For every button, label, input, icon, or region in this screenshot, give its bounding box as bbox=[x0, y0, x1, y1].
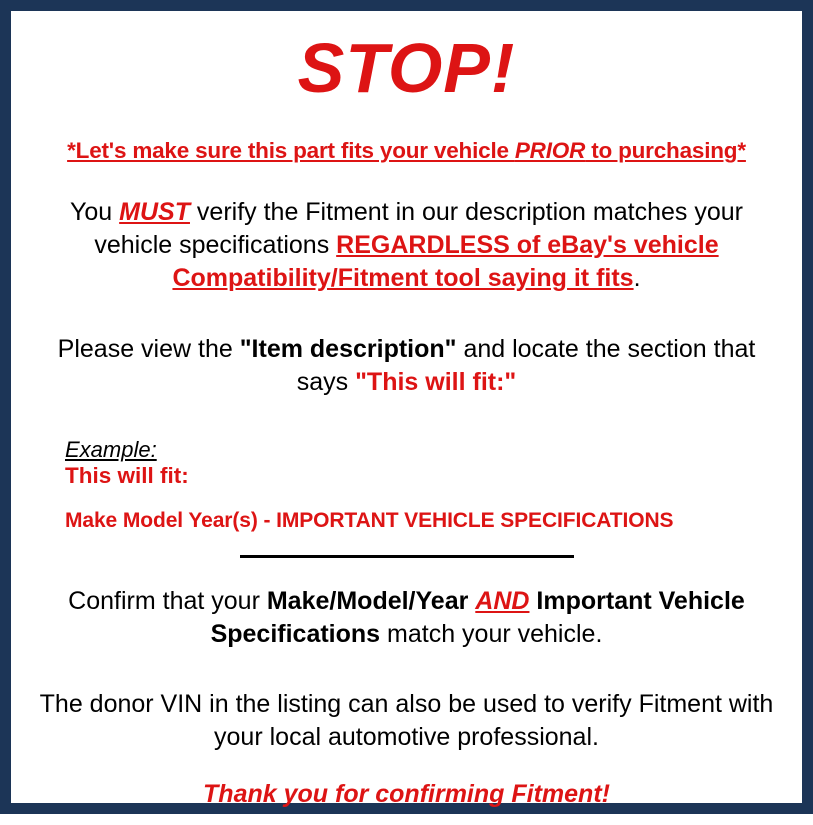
paragraph-item-description: Please view the "Item description" and l… bbox=[21, 333, 792, 399]
example-fit-heading: This will fit: bbox=[65, 462, 792, 490]
must-seg1: You bbox=[70, 198, 119, 226]
subheadline-emphasis-prior: PRIOR bbox=[515, 138, 585, 163]
section-divider bbox=[240, 555, 574, 558]
subheadline-after: to purchasing* bbox=[585, 138, 746, 163]
notice-content: STOP! *Let's make sure this part fits yo… bbox=[11, 33, 802, 825]
paragraph-donor-vin: The donor VIN in the listing can also be… bbox=[21, 688, 792, 754]
make-model-year-emphasis: Make/Model/Year bbox=[267, 587, 468, 615]
subheadline: *Let's make sure this part fits your veh… bbox=[21, 138, 792, 164]
item-description-emphasis: "Item description" bbox=[240, 335, 457, 363]
example-spec-line: Make Model Year(s) - IMPORTANT VEHICLE S… bbox=[65, 509, 792, 533]
closing-thank-you: Thank you for confirming Fitment! bbox=[21, 780, 792, 809]
must-emphasis: MUST bbox=[119, 198, 190, 226]
please-seg1: Please view the bbox=[58, 335, 240, 363]
must-seg3: . bbox=[634, 264, 641, 292]
paragraph-confirm: Confirm that your Make/Model/Year AND Im… bbox=[21, 585, 792, 651]
fitment-notice-card: STOP! *Let's make sure this part fits yo… bbox=[0, 0, 813, 814]
stop-headline: STOP! bbox=[21, 33, 792, 103]
this-will-fit-emphasis: "This will fit:" bbox=[355, 368, 516, 396]
example-label: Example: bbox=[65, 437, 792, 462]
divider-wrap bbox=[21, 555, 792, 569]
and-emphasis: AND bbox=[475, 587, 529, 615]
confirm-seg4: match your vehicle. bbox=[380, 620, 602, 648]
example-block: Example: This will fit: Make Model Year(… bbox=[21, 437, 792, 533]
paragraph-must-verify: You MUST verify the Fitment in our descr… bbox=[21, 196, 792, 295]
subheadline-before: *Let's make sure this part fits your veh… bbox=[67, 138, 515, 163]
confirm-seg1: Confirm that your bbox=[68, 587, 267, 615]
